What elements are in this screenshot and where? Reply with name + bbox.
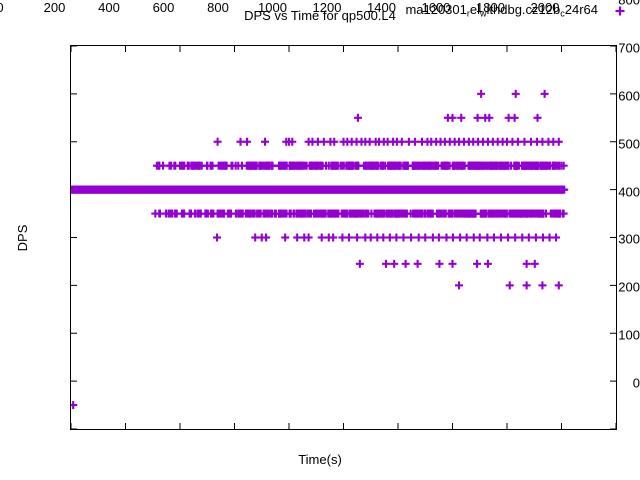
data-point-plus-icon xyxy=(353,234,361,242)
data-point-plus-icon xyxy=(165,162,173,170)
data-point-plus-icon xyxy=(490,234,498,242)
data-point-plus-icon xyxy=(523,281,531,289)
data-point-plus-icon xyxy=(354,114,362,122)
data-point-plus-icon xyxy=(512,90,520,98)
data-point-plus-icon xyxy=(616,6,625,15)
data-point-plus-icon xyxy=(414,260,422,268)
data-point-plus-icon xyxy=(485,114,493,122)
data-point-plus-icon xyxy=(281,234,289,242)
x-tick-label: 2000 xyxy=(531,0,560,15)
data-point-plus-icon xyxy=(538,281,546,289)
y-tick-label: 600 xyxy=(582,88,640,103)
y-tick-label: 0 xyxy=(582,376,640,391)
data-point-plus-icon xyxy=(473,260,481,268)
data-point-plus-icon xyxy=(463,234,471,242)
data-point-plus-icon xyxy=(262,234,270,242)
x-tick-label: 1600 xyxy=(422,0,451,15)
data-point-plus-icon xyxy=(402,260,410,268)
data-point-plus-icon xyxy=(555,281,563,289)
data-point-plus-icon xyxy=(392,234,400,242)
data-point-plus-icon xyxy=(531,260,539,268)
y-tick-label: 400 xyxy=(582,184,640,199)
data-point-plus-icon xyxy=(484,260,492,268)
y-tick-label: 700 xyxy=(582,40,640,55)
x-axis-title: Time(s) xyxy=(0,452,640,467)
data-point-plus-icon xyxy=(421,234,429,242)
data-point-plus-icon xyxy=(534,114,542,122)
data-point-plus-icon xyxy=(449,260,457,268)
y-tick-label: 200 xyxy=(582,280,640,295)
x-tick-label: 200 xyxy=(44,0,66,15)
data-point-plus-icon xyxy=(457,114,465,122)
data-point-plus-icon xyxy=(532,234,540,242)
data-point-plus-icon xyxy=(449,114,457,122)
y-tick-label: 100 xyxy=(582,328,640,343)
data-point-plus-icon xyxy=(435,234,443,242)
data-point-plus-icon xyxy=(382,260,390,268)
data-point-plus-icon xyxy=(243,138,251,146)
data-point-plus-icon xyxy=(504,234,512,242)
x-tick-label: 1000 xyxy=(258,0,287,15)
data-point-plus-icon xyxy=(455,281,463,289)
x-tick-label: 400 xyxy=(98,0,120,15)
data-point-plus-icon xyxy=(477,90,485,98)
data-point-plus-icon xyxy=(261,138,269,146)
y-axis-labels: 0100200300400500600700800 xyxy=(0,0,64,385)
data-point-plus-icon xyxy=(511,114,519,122)
x-tick-label: 0 xyxy=(0,0,4,15)
data-point-plus-icon xyxy=(474,114,482,122)
data-point-plus-icon xyxy=(390,260,398,268)
data-point-plus-icon xyxy=(213,234,221,242)
y-axis-title: DPS xyxy=(15,224,30,251)
data-point-plus-icon xyxy=(555,138,563,146)
data-layer xyxy=(71,46,616,429)
data-point-plus-icon xyxy=(155,210,163,218)
plot-area: DPS xyxy=(70,45,617,430)
data-point-plus-icon xyxy=(318,234,326,242)
data-point-plus-icon xyxy=(552,234,560,242)
data-point-plus-icon xyxy=(497,234,505,242)
y-tick-label: 500 xyxy=(582,136,640,151)
data-point-plus-icon xyxy=(435,260,443,268)
data-point-plus-icon xyxy=(541,90,549,98)
data-point-plus-icon xyxy=(398,138,406,146)
y-tick-label: 300 xyxy=(582,232,640,247)
data-point-plus-icon xyxy=(293,234,301,242)
data-point-plus-icon xyxy=(214,138,222,146)
x-tick-label: 1400 xyxy=(367,0,396,15)
x-tick-label: 1200 xyxy=(313,0,342,15)
data-point-plus-icon xyxy=(511,234,519,242)
data-point-plus-icon xyxy=(407,234,415,242)
data-point-plus-icon xyxy=(449,234,457,242)
data-point-plus-icon xyxy=(329,234,337,242)
y-tick-label: 800 xyxy=(582,0,640,8)
x-tick-label: 1800 xyxy=(476,0,505,15)
chart-canvas: DPS vs Time for qp500.L4 ma120301relwith… xyxy=(0,0,640,480)
data-point-plus-icon xyxy=(525,234,533,242)
data-point-plus-icon xyxy=(523,260,531,268)
data-point-plus-icon xyxy=(305,234,313,242)
data-point-plus-icon xyxy=(71,401,77,409)
data-point-plus-icon xyxy=(411,138,419,146)
data-point-plus-icon xyxy=(506,281,514,289)
x-tick-label: 800 xyxy=(207,0,229,15)
x-tick-label: 600 xyxy=(153,0,175,15)
data-point-plus-icon xyxy=(345,234,353,242)
data-point-plus-icon xyxy=(399,234,407,242)
data-point-plus-icon xyxy=(476,234,484,242)
data-point-plus-icon xyxy=(356,260,364,268)
